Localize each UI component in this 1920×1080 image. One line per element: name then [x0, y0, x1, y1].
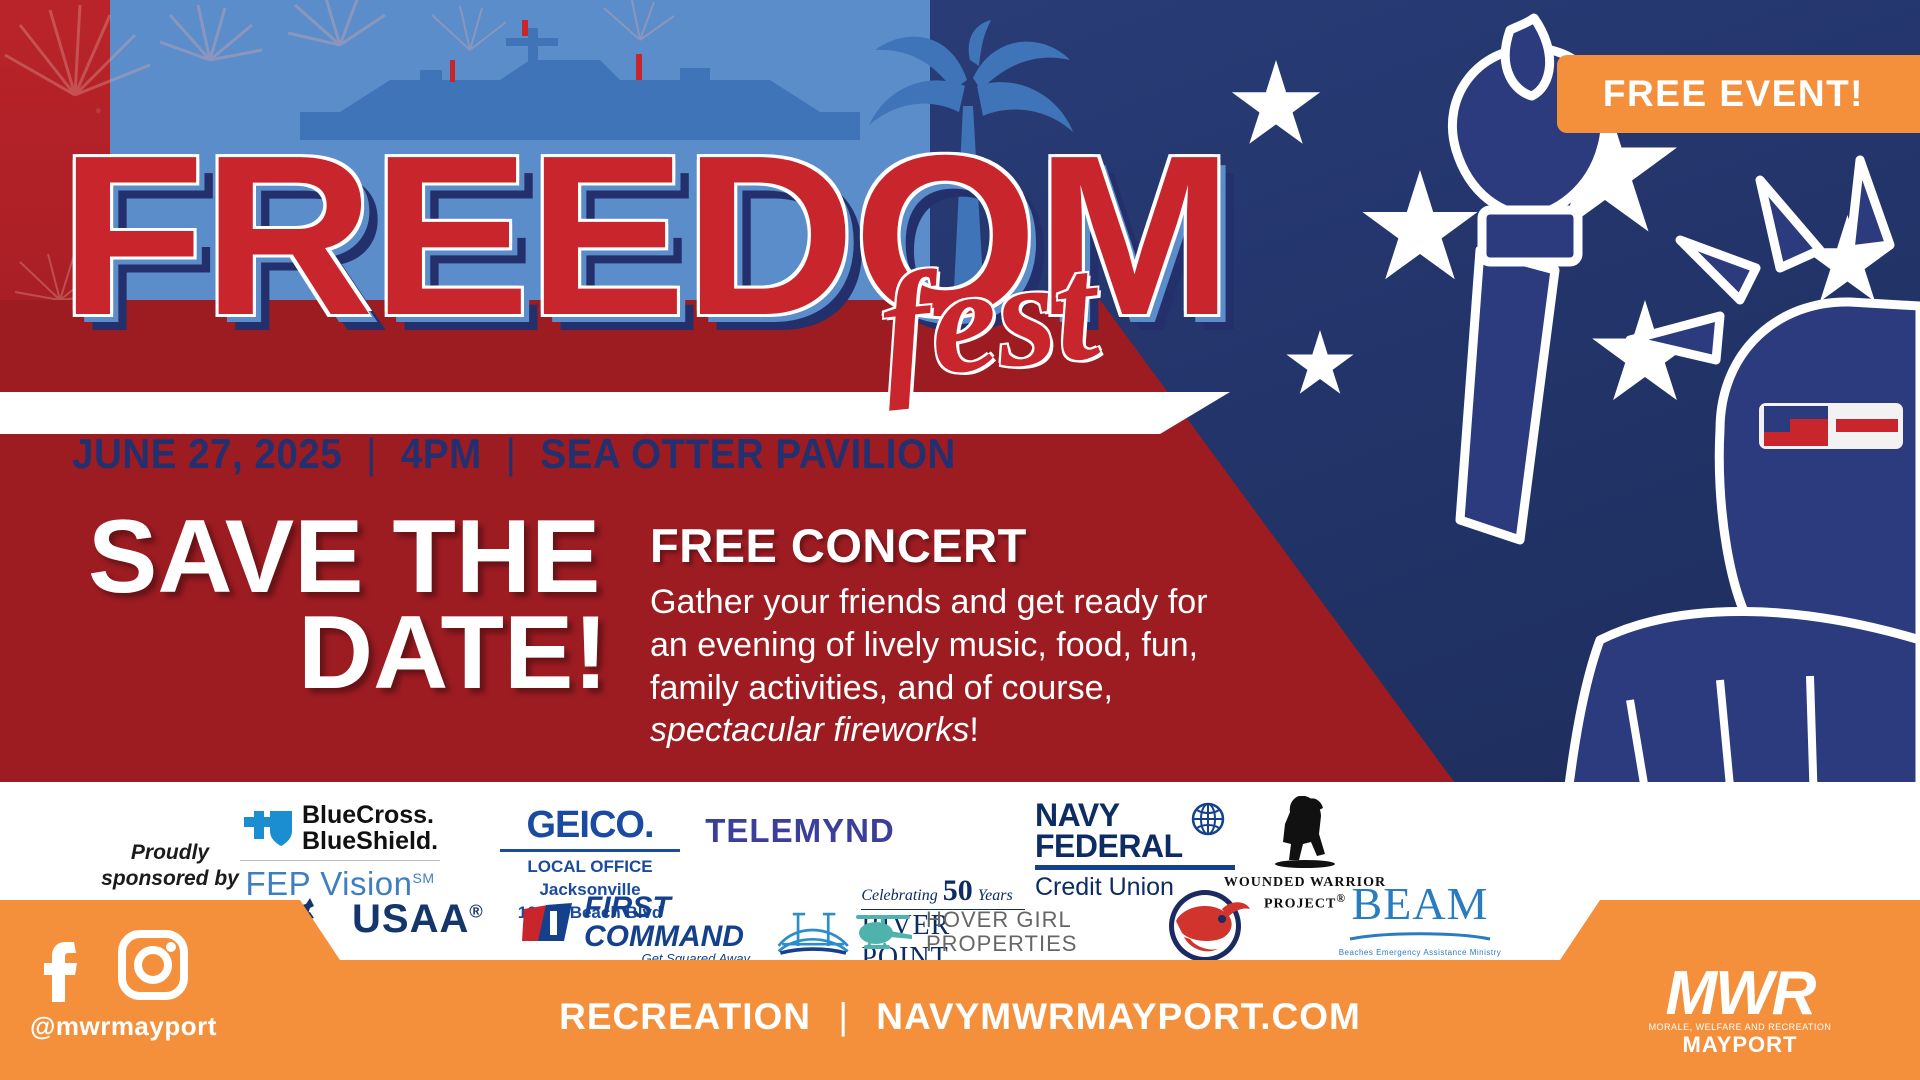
riverpoint-celebrating: Celebrating — [861, 887, 937, 905]
usaa-text: USAA — [352, 897, 469, 941]
beam-wave-icon — [1345, 931, 1495, 943]
detail-separator-1: | — [353, 430, 389, 477]
firstcmd-line2: COMMAND — [584, 923, 750, 952]
bcbs-name: BlueCross. BlueShield. — [302, 802, 438, 855]
wounded-warrior-silhouette-icon — [1265, 790, 1345, 870]
telemynd-name: TELEMYND — [705, 812, 895, 849]
footer-separator: | — [822, 996, 865, 1037]
mwr-logo: MWR MORALE, WELFARE AND RECREATION MAYPO… — [1610, 966, 1870, 1058]
navyfed-line1: NAVY — [1035, 800, 1183, 831]
bcbs-line1: BlueCross. — [302, 802, 438, 828]
bcbs-cross-shield-icon — [240, 807, 296, 849]
title-script-accent: fest — [872, 221, 1105, 415]
mwr-location: MAYPORT — [1610, 1032, 1870, 1058]
bcbs-mark-and-name: BlueCross. BlueShield. — [240, 802, 440, 855]
event-date: JUNE 27, 2025 — [72, 430, 342, 477]
geico-underline — [500, 849, 680, 852]
sponsor-logo-beam: BEAM Beaches Emergency Assistance Minist… — [1330, 877, 1510, 957]
concert-heading: FREE CONCERT — [650, 518, 1230, 573]
usaa-name: USAA® — [352, 897, 484, 942]
usaa-registered: ® — [469, 902, 483, 922]
concert-body-before: Gather your friends and get ready for an… — [650, 583, 1208, 707]
save-the-date-heading: SAVE THE DATE! — [88, 510, 608, 701]
detail-separator-2: | — [493, 430, 529, 477]
beam-name: BEAM — [1330, 877, 1510, 930]
sponsors-intro: Proudly sponsored by — [95, 840, 245, 893]
riverpoint-bridge-icon — [775, 902, 851, 958]
mwr-logo-text: MWR — [1610, 966, 1870, 1022]
sponsors-intro-line2: sponsored by — [95, 866, 245, 892]
concert-body-emphasis: spectacular fireworks — [650, 711, 969, 749]
facebook-icon[interactable] — [28, 928, 102, 1002]
riverpoint-years: Years — [978, 887, 1013, 905]
firstcmd-line1: FIRST — [584, 894, 750, 923]
hover-girl-name: HOVER GIRL PROPERTIES — [926, 908, 1077, 956]
sponsors-intro-line1: Proudly — [95, 840, 245, 866]
riverpoint-fifty: 50 — [943, 874, 973, 908]
bcbs-divider — [240, 860, 440, 861]
first-command-mark-icon — [520, 901, 576, 945]
event-venue: SEA OTTER PAVILION — [540, 430, 955, 477]
sponsor-logo-bcbs: BlueCross. BlueShield. FEP VisionSM — [240, 802, 440, 903]
navyfed-line2: FEDERAL — [1035, 831, 1183, 862]
jumbo-shrimp-icon — [1150, 887, 1260, 965]
concert-body-after: ! — [969, 711, 978, 749]
helicopter-icon — [850, 907, 916, 957]
event-details-line: JUNE 27, 2025 | 4PM | SEA OTTER PAVILION — [72, 430, 956, 478]
fep-vision-sm: SM — [413, 870, 435, 886]
footer-recreation-label: RECREATION — [559, 996, 811, 1037]
instagram-icon[interactable] — [116, 928, 190, 1002]
fep-vision-text: FEP Vision — [245, 865, 412, 902]
sponsor-logo-jumbo-shrimp — [1140, 887, 1270, 970]
geico-line1: LOCAL OFFICE — [500, 856, 680, 879]
bcbs-line2: BlueShield. — [302, 828, 438, 854]
navyfed-underline — [1035, 865, 1235, 870]
wwp-project-text: PROJECT — [1264, 896, 1336, 911]
save-the-date-line1: SAVE THE — [88, 510, 608, 606]
footer-website-url[interactable]: NAVYMWRMAYPORT.COM — [876, 996, 1361, 1037]
concert-info-block: FREE CONCERT Gather your friends and get… — [650, 518, 1230, 752]
event-time: 4PM — [401, 430, 482, 477]
social-icons — [28, 928, 190, 1002]
save-the-date-line2: DATE! — [88, 606, 608, 702]
concert-description: Gather your friends and get ready for an… — [650, 581, 1230, 752]
sponsor-logo-telemynd: TELEMYND — [695, 812, 905, 850]
hover-girl-line2: PROPERTIES — [926, 932, 1077, 956]
beam-sub: Beaches Emergency Assistance Ministry — [1330, 948, 1510, 957]
sponsor-logo-first-command: FIRST COMMAND Get Squared Away — [520, 894, 750, 966]
event-poster: FREE EVENT! FREEDOM fest JUNE 27, 2025 |… — [0, 0, 1920, 1080]
sponsor-logo-hover-girl: HOVER GIRL PROPERTIES — [850, 907, 1090, 957]
free-event-badge: FREE EVENT! — [1557, 55, 1920, 133]
riverpoint-celebrating-row: Celebrating 50 Years — [861, 874, 1025, 910]
geico-name: GEICO. — [500, 804, 680, 847]
hover-girl-line1: HOVER GIRL — [926, 908, 1077, 932]
mwr-tagline: MORALE, WELFARE AND RECREATION — [1610, 1022, 1870, 1032]
